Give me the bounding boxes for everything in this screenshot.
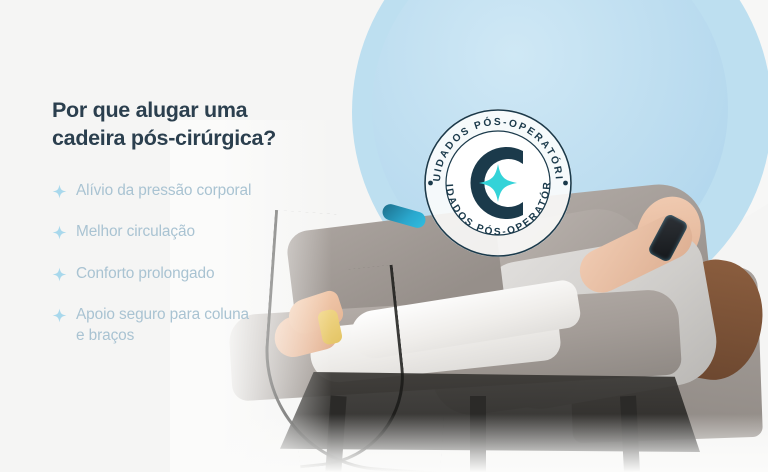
sparkle-icon [52,267,67,282]
headline-line-1: Por que alugar uma [52,96,352,124]
list-item: Alívio da pressão corporal [52,181,352,201]
copy-block: Por que alugar uma cadeira pós-cirúrgica… [52,96,352,346]
sparkle-icon [52,308,67,323]
page-title: Por que alugar uma cadeira pós-cirúrgica… [52,96,352,153]
badge-dot-right [563,181,568,186]
sparkle-icon [52,184,67,199]
badge-dot-left [428,181,433,186]
list-item: Apoio seguro para coluna e braços [52,305,352,346]
benefits-list: Alívio da pressão corporal Melhor circul… [52,181,352,346]
benefit-label: Melhor circulação [76,222,195,242]
sparkle-icon [52,225,67,240]
benefit-label: Apoio seguro para coluna e braços [76,305,249,346]
brand-badge: CUIDADOS PÓS-OPERATÓRIO CUIDADOS PÓS-OPE… [421,106,575,260]
headline-line-2: cadeira pós-cirúrgica? [52,124,352,152]
chair-leg [470,396,486,472]
list-item: Melhor circulação [52,222,352,242]
list-item: Conforto prolongado [52,264,352,284]
benefit-label: Conforto prolongado [76,264,214,284]
benefit-label: Alívio da pressão corporal [76,181,251,201]
promotional-poster: CUIDADOS PÓS-OPERATÓRIO CUIDADOS PÓS-OPE… [0,0,768,472]
